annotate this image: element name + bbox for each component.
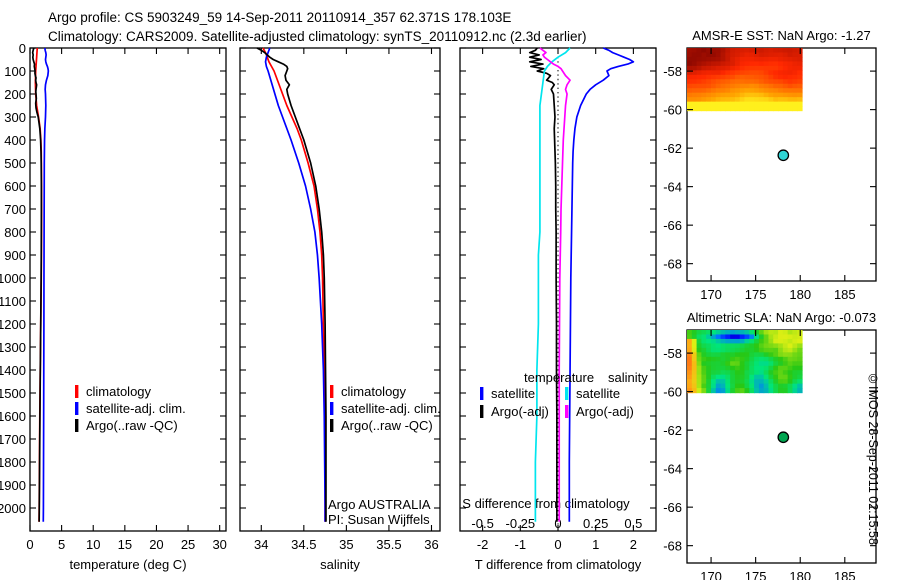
heatmap-cell	[749, 352, 754, 357]
argo-position-marker[interactable]	[778, 432, 788, 442]
heatmap-cell	[716, 375, 721, 380]
heatmap-cell	[697, 48, 702, 53]
heatmap-cell	[706, 66, 711, 71]
heatmap-cell	[745, 388, 750, 393]
heatmap-cell	[716, 48, 721, 53]
heatmap-cell	[797, 66, 802, 71]
heatmap-cell	[759, 88, 764, 93]
heatmap-cell	[773, 75, 778, 80]
heatmap-cell	[788, 75, 793, 80]
heatmap-cell	[706, 348, 711, 353]
heatmap-cell	[721, 375, 726, 380]
heatmap-cell	[778, 330, 783, 335]
heatmap-cell	[740, 97, 745, 102]
heatmap-cell	[716, 379, 721, 384]
legend-label: Argo(-adj)	[576, 404, 634, 419]
heatmap-cell	[692, 343, 697, 348]
heatmap-cell	[773, 339, 778, 344]
svg-text:-60: -60	[663, 103, 682, 118]
heatmap-cell	[706, 75, 711, 80]
map-title: AMSR-E SST: NaN Argo: -1.27	[692, 28, 870, 43]
heatmap-cell	[788, 379, 793, 384]
heatmap-cell	[706, 61, 711, 66]
heatmap-cell	[754, 348, 759, 353]
heatmap-cell	[759, 57, 764, 62]
x-tick-label-salinity: -0.25	[505, 516, 535, 531]
heatmap-cell	[687, 366, 692, 371]
heatmap-cell	[692, 88, 697, 93]
svg-text:1200: 1200	[0, 317, 26, 332]
heatmap-cell	[701, 334, 706, 339]
heatmap-cell	[740, 330, 745, 335]
heatmap-cell	[768, 84, 773, 89]
heatmap-cell	[768, 88, 773, 93]
heatmap-cell	[692, 52, 697, 57]
heatmap-cell	[740, 370, 745, 375]
svg-text:-2: -2	[477, 537, 489, 552]
heatmap-cell	[788, 339, 793, 344]
heatmap-cell	[697, 388, 702, 393]
heatmap-cell	[706, 70, 711, 75]
heatmap-cell	[687, 106, 692, 111]
heatmap-cell	[749, 61, 754, 66]
heatmap-cell	[711, 375, 716, 380]
heatmap-cell	[788, 52, 793, 57]
heatmap-cell	[768, 375, 773, 380]
heatmap-cell	[711, 366, 716, 371]
heatmap-cell	[730, 343, 735, 348]
heatmap-cell	[759, 52, 764, 57]
panel-altimetric-sla[interactable]: Altimetric SLA: NaN Argo: -0.07317017518…	[663, 310, 876, 580]
heatmap-cell	[721, 106, 726, 111]
heatmap-cell	[768, 52, 773, 57]
heatmap-cell	[788, 93, 793, 98]
heatmap-cell	[788, 61, 793, 66]
heatmap-cell	[797, 370, 802, 375]
heatmap-cell	[721, 370, 726, 375]
legend-label: satellite	[491, 386, 535, 401]
heatmap-cell	[759, 84, 764, 89]
heatmap-cell	[764, 97, 769, 102]
heatmap-cell	[716, 330, 721, 335]
heatmap-cell	[716, 357, 721, 362]
heatmap-cell	[754, 370, 759, 375]
heatmap-cell	[797, 348, 802, 353]
heatmap-cell	[778, 370, 783, 375]
heatmap-cell	[773, 70, 778, 75]
heatmap-cell	[745, 343, 750, 348]
heatmap-cell	[759, 352, 764, 357]
heatmap-cell	[730, 48, 735, 53]
heatmap-cell	[797, 357, 802, 362]
heatmap-cell	[764, 61, 769, 66]
heatmap-cell	[730, 97, 735, 102]
heatmap-cell	[692, 61, 697, 66]
heatmap-cell	[749, 52, 754, 57]
heatmap-cell	[725, 339, 730, 344]
svg-text:-60: -60	[663, 385, 682, 400]
heatmap-cell	[725, 357, 730, 362]
svg-text:-58: -58	[663, 64, 682, 79]
heatmap-cell	[768, 361, 773, 366]
heatmap-cell	[716, 343, 721, 348]
heatmap-cell	[721, 75, 726, 80]
heatmap-data	[687, 330, 803, 393]
svg-text:300: 300	[4, 110, 26, 125]
heatmap-cell	[721, 334, 726, 339]
legend-label: Argo(-adj)	[491, 404, 549, 419]
heatmap-cell	[730, 384, 735, 389]
heatmap-cell	[754, 75, 759, 80]
heatmap-cell	[773, 361, 778, 366]
heatmap-cell	[754, 106, 759, 111]
heatmap-cell	[797, 375, 802, 380]
heatmap-cell	[797, 388, 802, 393]
heatmap-cell	[749, 79, 754, 84]
heatmap-cell	[749, 357, 754, 362]
svg-text:-62: -62	[663, 141, 682, 156]
heatmap-cell	[759, 48, 764, 53]
panel-amsre-sst[interactable]: AMSR-E SST: NaN Argo: -1.27170175180185-…	[663, 28, 876, 302]
heatmap-cell	[783, 84, 788, 89]
heatmap-cell	[778, 384, 783, 389]
heatmap-cell	[745, 330, 750, 335]
map-title: Altimetric SLA: NaN Argo: -0.073	[687, 310, 876, 325]
heatmap-cell	[721, 48, 726, 53]
heatmap-cell	[778, 97, 783, 102]
heatmap-cell	[735, 75, 740, 80]
heatmap-cell	[706, 352, 711, 357]
heatmap-cell	[721, 384, 726, 389]
heatmap-cell	[697, 66, 702, 71]
heatmap-cell	[792, 48, 797, 53]
heatmap-cell	[768, 388, 773, 393]
heatmap-cell	[687, 384, 692, 389]
heatmap-cell	[716, 388, 721, 393]
heatmap-cell	[797, 384, 802, 389]
heatmap-cell	[711, 370, 716, 375]
heatmap-cell	[697, 106, 702, 111]
heatmap-cell	[706, 366, 711, 371]
panel-temperature[interactable]: 0100200300400500600700800900100011001200…	[0, 41, 227, 572]
svg-text:25: 25	[181, 537, 195, 552]
heatmap-cell	[759, 339, 764, 344]
heatmap-cell	[725, 61, 730, 66]
heatmap-cell	[764, 379, 769, 384]
heatmap-cell	[706, 84, 711, 89]
heatmap-cell	[697, 366, 702, 371]
heatmap-cell	[735, 348, 740, 353]
heatmap-cell	[768, 79, 773, 84]
heatmap-cell	[749, 370, 754, 375]
heatmap-cell	[792, 106, 797, 111]
heatmap-cell	[749, 334, 754, 339]
heatmap-cell	[778, 339, 783, 344]
heatmap-cell	[711, 388, 716, 393]
heatmap-cell	[721, 388, 726, 393]
heatmap-cell	[768, 348, 773, 353]
heatmap-cell	[697, 61, 702, 66]
svg-text:400: 400	[4, 133, 26, 148]
heatmap-cell	[778, 366, 783, 371]
heatmap-cell	[749, 48, 754, 53]
heatmap-cell	[721, 366, 726, 371]
heatmap-cell	[716, 75, 721, 80]
heatmap-cell	[701, 330, 706, 335]
heatmap-cell	[749, 88, 754, 93]
heatmap-cell	[797, 84, 802, 89]
heatmap-cell	[725, 79, 730, 84]
heatmap-cell	[783, 97, 788, 102]
heatmap-cell	[749, 97, 754, 102]
heatmap-cell	[754, 79, 759, 84]
heatmap-cell	[778, 57, 783, 62]
heatmap-cell	[740, 339, 745, 344]
heatmap-cell	[711, 88, 716, 93]
heatmap-cell	[773, 334, 778, 339]
heatmap-cell	[783, 375, 788, 380]
heatmap-cell	[687, 61, 692, 66]
heatmap-cell	[716, 61, 721, 66]
heatmap-cell	[716, 339, 721, 344]
heatmap-cell	[792, 102, 797, 107]
panel-difference[interactable]: -2-1012T difference from climatology-0.5…	[460, 48, 656, 572]
svg-text:0: 0	[19, 41, 26, 56]
heatmap-cell	[711, 70, 716, 75]
heatmap-cell	[764, 370, 769, 375]
svg-text:36: 36	[424, 537, 438, 552]
heatmap-cell	[788, 348, 793, 353]
heatmap-cell	[792, 97, 797, 102]
heatmap-cell	[792, 384, 797, 389]
heatmap-cell	[740, 334, 745, 339]
heatmap-cell	[797, 88, 802, 93]
svg-text:1300: 1300	[0, 340, 26, 355]
heatmap-cell	[735, 66, 740, 71]
heatmap-cell	[745, 61, 750, 66]
heatmap-cell	[759, 348, 764, 353]
heatmap-cell	[754, 70, 759, 75]
heatmap-cell	[697, 79, 702, 84]
heatmap-cell	[749, 348, 754, 353]
x-tick-label-salinity: 0.5	[624, 516, 642, 531]
svg-text:900: 900	[4, 248, 26, 263]
heatmap-cell	[778, 48, 783, 53]
svg-text:170: 170	[700, 287, 722, 302]
heatmap-cell	[701, 97, 706, 102]
heatmap-cell	[797, 75, 802, 80]
heatmap-cell	[764, 366, 769, 371]
heatmap-cell	[788, 334, 793, 339]
heatmap-cell	[687, 343, 692, 348]
heatmap-cell	[692, 79, 697, 84]
heatmap-cell	[740, 84, 745, 89]
heatmap-cell	[745, 361, 750, 366]
heatmap-cell	[783, 384, 788, 389]
heatmap-cell	[711, 79, 716, 84]
x-tick-label-salinity: 0.25	[583, 516, 608, 531]
heatmap-cell	[725, 375, 730, 380]
heatmap-cell	[797, 361, 802, 366]
heatmap-cell	[745, 48, 750, 53]
heatmap-cell	[692, 357, 697, 362]
heatmap-cell	[692, 379, 697, 384]
heatmap-cell	[735, 334, 740, 339]
heatmap-cell	[692, 339, 697, 344]
heatmap-cell	[735, 352, 740, 357]
svg-text:0: 0	[26, 537, 33, 552]
heatmap-cell	[778, 52, 783, 57]
heatmap-cell	[716, 84, 721, 89]
heatmap-cell	[749, 66, 754, 71]
svg-text:-68: -68	[663, 257, 682, 272]
heatmap-cell	[797, 106, 802, 111]
heatmap-cell	[783, 357, 788, 362]
svg-text:-64: -64	[663, 462, 682, 477]
heatmap-cell	[735, 343, 740, 348]
heatmap-cell	[768, 75, 773, 80]
heatmap-cell	[701, 79, 706, 84]
heatmap-cell	[721, 66, 726, 71]
heatmap-cell	[768, 48, 773, 53]
heatmap-cell	[711, 348, 716, 353]
heatmap-cell	[692, 106, 697, 111]
svg-text:700: 700	[4, 202, 26, 217]
heatmap-cell	[697, 57, 702, 62]
heatmap-cell	[730, 84, 735, 89]
heatmap-cell	[701, 57, 706, 62]
heatmap-cell	[749, 361, 754, 366]
heatmap-cell	[773, 357, 778, 362]
heatmap-cell	[764, 93, 769, 98]
heatmap-cell	[773, 52, 778, 57]
heatmap-cell	[711, 75, 716, 80]
heatmap-cell	[716, 88, 721, 93]
heatmap-cell	[773, 102, 778, 107]
heatmap-cell	[721, 339, 726, 344]
heatmap-cell	[687, 75, 692, 80]
heatmap-cell	[778, 352, 783, 357]
heatmap-cell	[735, 388, 740, 393]
heatmap-cell	[778, 106, 783, 111]
heatmap-cell	[754, 339, 759, 344]
heatmap-cell	[740, 48, 745, 53]
heatmap-cell	[706, 106, 711, 111]
heatmap-cell	[697, 384, 702, 389]
svg-text:34.5: 34.5	[291, 537, 316, 552]
argo-position-marker[interactable]	[778, 150, 788, 160]
heatmap-cell	[711, 52, 716, 57]
heatmap-cell	[730, 357, 735, 362]
heatmap-cell	[783, 52, 788, 57]
heatmap-cell	[701, 379, 706, 384]
svg-text:35: 35	[339, 537, 353, 552]
heatmap-cell	[711, 66, 716, 71]
heatmap-cell	[735, 52, 740, 57]
legend-swatch	[565, 405, 568, 418]
legend-label: Argo(..raw -QC)	[341, 418, 433, 433]
heatmap-cell	[697, 343, 702, 348]
svg-text:-1: -1	[515, 537, 527, 552]
heatmap-cell	[778, 93, 783, 98]
heatmap-cell	[730, 388, 735, 393]
heatmap-cell	[773, 97, 778, 102]
heatmap-cell	[773, 343, 778, 348]
heatmap-cell	[721, 102, 726, 107]
x-axis-label: salinity	[320, 557, 360, 572]
heatmap-cell	[697, 330, 702, 335]
heatmap-cell	[687, 102, 692, 107]
heatmap-cell	[725, 66, 730, 71]
heatmap-cell	[754, 343, 759, 348]
heatmap-cell	[721, 330, 726, 335]
heatmap-cell	[773, 106, 778, 111]
heatmap-cell	[740, 61, 745, 66]
heatmap-cell	[692, 366, 697, 371]
heatmap-cell	[754, 366, 759, 371]
x-tick-label-salinity: -0.5	[471, 516, 493, 531]
heatmap-cell	[687, 334, 692, 339]
panel-salinity[interactable]: 3434.53535.536salinityclimatologysatelli…	[240, 48, 441, 572]
heatmap-cell	[711, 106, 716, 111]
heatmap-cell	[773, 66, 778, 71]
heatmap-cell	[725, 52, 730, 57]
heatmap-cell	[759, 343, 764, 348]
heatmap-cell	[735, 97, 740, 102]
heatmap-cell	[792, 379, 797, 384]
heatmap-cell	[701, 348, 706, 353]
heatmap-cell	[792, 357, 797, 362]
figure-canvas: 0100200300400500600700800900100011001200…	[0, 0, 900, 580]
heatmap-cell	[711, 343, 716, 348]
heatmap-cell	[754, 375, 759, 380]
heatmap-cell	[706, 57, 711, 62]
heatmap-cell	[783, 379, 788, 384]
heatmap-cell	[701, 352, 706, 357]
heatmap-cell	[697, 84, 702, 89]
heatmap-cell	[716, 334, 721, 339]
heatmap-cell	[687, 79, 692, 84]
heatmap-cell	[797, 61, 802, 66]
heatmap-cell	[730, 93, 735, 98]
heatmap-cell	[692, 330, 697, 335]
svg-text:2000: 2000	[0, 501, 26, 516]
heatmap-cell	[749, 70, 754, 75]
x-axis-label: T difference from climatology	[475, 557, 642, 572]
svg-text:1400: 1400	[0, 363, 26, 378]
heatmap-cell	[749, 330, 754, 335]
heatmap-cell	[692, 388, 697, 393]
svg-text:0: 0	[554, 537, 561, 552]
heatmap-cell	[711, 57, 716, 62]
heatmap-cell	[797, 93, 802, 98]
heatmap-cell	[768, 61, 773, 66]
heatmap-cell	[697, 379, 702, 384]
heatmap-cell	[797, 79, 802, 84]
legend-label: climatology	[86, 384, 152, 399]
heatmap-cell	[735, 79, 740, 84]
heatmap-cell	[745, 357, 750, 362]
heatmap-cell	[788, 66, 793, 71]
heatmap-cell	[706, 361, 711, 366]
heatmap-cell	[788, 84, 793, 89]
heatmap-cell	[797, 97, 802, 102]
heatmap-cell	[797, 343, 802, 348]
heatmap-cell	[730, 330, 735, 335]
heatmap-cell	[749, 57, 754, 62]
heatmap-cell	[735, 357, 740, 362]
heatmap-cell	[740, 102, 745, 107]
